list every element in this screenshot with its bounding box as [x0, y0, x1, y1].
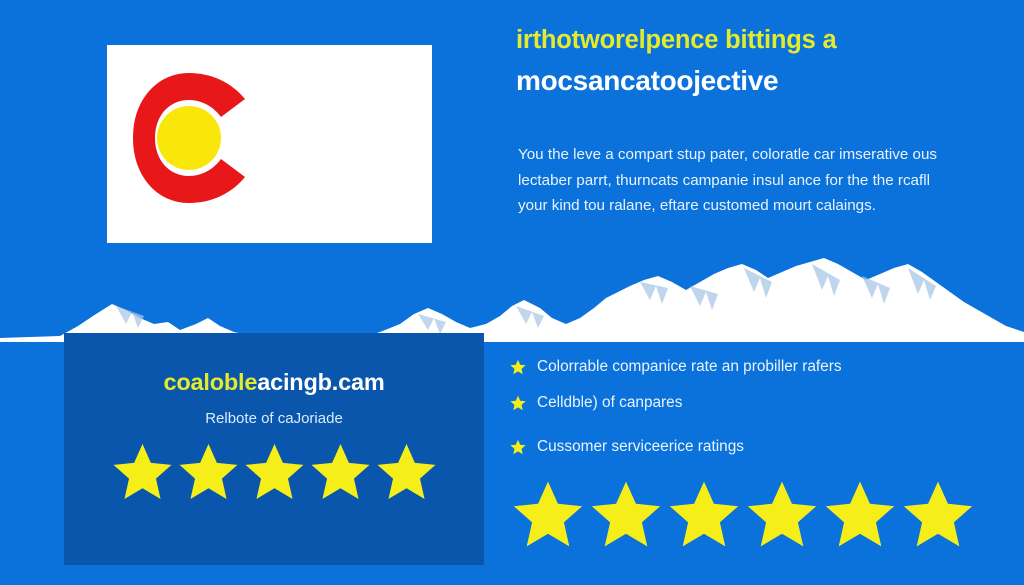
feature-item: Colorrable companice rate an probiller r…	[510, 358, 980, 376]
rating-star-icon	[178, 441, 239, 502]
star-bullet-icon	[510, 395, 526, 411]
brand-tagline: Relbote of caJoriade	[64, 410, 484, 427]
snowy-mountain-range	[0, 252, 1024, 342]
brand-domain: coalobleacingb.cam	[64, 369, 484, 396]
feature-text: Cussomer serviceerice ratings	[537, 438, 744, 456]
rating-star-icon	[746, 478, 818, 550]
rating-star-icon	[244, 441, 305, 502]
poster-canvas: irthotworelpence bittings a mocsancatooj…	[0, 0, 1024, 585]
feature-text: Colorrable companice rate an probiller r…	[537, 358, 842, 376]
colorado-flag-card	[107, 45, 432, 243]
colorado-c-icon	[133, 73, 251, 203]
brand-star-rating	[64, 441, 484, 502]
rating-star-icon	[824, 478, 896, 550]
body-paragraph: You the leve a compart stup pater, color…	[518, 142, 938, 219]
large-star-rating	[512, 478, 974, 550]
brand-panel: coalobleacingb.cam Relbote of caJoriade	[64, 333, 484, 565]
feature-item: Celldble) of canpares	[510, 394, 980, 412]
rating-star-icon	[112, 441, 173, 502]
rating-star-icon	[590, 478, 662, 550]
headline-line-2: mocsancatoojective	[516, 60, 986, 102]
brand-domain-part-a: coaloble	[163, 369, 257, 395]
rating-star-icon	[512, 478, 584, 550]
star-bullet-icon	[510, 359, 526, 375]
rating-star-icon	[668, 478, 740, 550]
star-bullet-icon	[510, 439, 526, 455]
feature-text: Celldble) of canpares	[537, 394, 682, 412]
rating-star-icon	[902, 478, 974, 550]
rating-star-icon	[376, 441, 437, 502]
headline-line-1: irthotworelpence bittings a	[516, 22, 986, 58]
feature-list: Colorrable companice rate an probiller r…	[510, 358, 980, 474]
headline-block: irthotworelpence bittings a mocsancatooj…	[516, 22, 986, 102]
feature-item: Cussomer serviceerice ratings	[510, 438, 980, 456]
brand-domain-part-b: acingb.cam	[257, 369, 384, 395]
rating-star-icon	[310, 441, 371, 502]
